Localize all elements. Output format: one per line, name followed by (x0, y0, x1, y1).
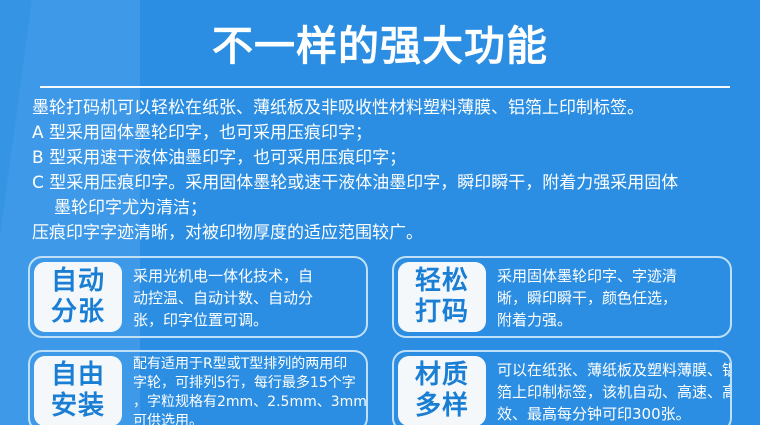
feature-text-line: 张，印字位置可调。 (133, 309, 360, 331)
feature-badge-line: 自由 (51, 360, 105, 391)
feature-text-line: 效、最高每分钟可印300张。 (497, 403, 732, 425)
feature-text-line: 采用固体墨轮印字、字迹清 (497, 265, 724, 287)
description-line: 墨轮印字尤为清洁； (32, 196, 744, 221)
feature-card-auto-feed: 自动 分张 采用光机电一体化技术，自 动控温、自动计数、自动分 张，印字位置可调… (28, 256, 368, 338)
feature-text-line: 字轮，可排列5行，每行最多15个字 (133, 374, 367, 393)
description-line: C 型采用压痕印字。采用固体墨轮或速干液体油墨印字，瞬印瞬干，附着力强采用固体 (32, 171, 744, 196)
description-block: 墨轮打码机可以轻松在纸张、薄纸板及非吸收性材料塑料薄膜、铝箔上印制标签。 A 型… (32, 96, 744, 246)
feature-card-free-installation: 自由 安装 配有适用于R型或T型排列的两用印 字轮，可排列5行，每行最多15个字… (28, 350, 368, 425)
feature-text-line: 附着力强。 (497, 309, 724, 331)
description-line: B 型采用速干液体油墨印字，也可采用压痕印字； (32, 146, 744, 171)
feature-text-line: 箔上印制标签，该机自动、高速、高 (497, 381, 732, 403)
feature-text-line: ，字粒规格有2mm、2.5mm、3mm (133, 393, 367, 412)
page-title: 不一样的强大功能 (0, 22, 760, 70)
feature-text-line: 可以在纸张、薄纸板及塑料薄膜、铝 (497, 359, 732, 381)
feature-card-text: 可以在纸张、薄纸板及塑料薄膜、铝 箔上印制标签，该机自动、高速、高 效、最高每分… (490, 352, 732, 425)
feature-text-line: 配有适用于R型或T型排列的两用印 (133, 355, 367, 374)
feature-badge-line: 自动 (51, 266, 105, 297)
description-line: 墨轮打码机可以轻松在纸张、薄纸板及非吸收性材料塑料薄膜、铝箔上印制标签。 (32, 96, 744, 121)
feature-card-material-variety: 材质 多样 可以在纸张、薄纸板及塑料薄膜、铝 箔上印制标签，该机自动、高速、高 … (392, 350, 732, 425)
description-line: 压痕印字字迹清晰，对被印物厚度的适应范围较广。 (32, 221, 744, 246)
feature-card-text: 采用固体墨轮印字、字迹清 晰，瞬印瞬干，颜色任选， 附着力强。 (490, 258, 730, 336)
feature-badge: 材质 多样 (398, 356, 486, 425)
title-divider (40, 86, 730, 88)
feature-badge-line: 轻松 (415, 266, 469, 297)
feature-text-line: 采用光机电一体化技术，自 (133, 265, 360, 287)
feature-badge: 自由 安装 (34, 356, 122, 425)
feature-text-line: 晰，瞬印瞬干，颜色任选， (497, 287, 724, 309)
feature-badge-line: 分张 (51, 297, 105, 328)
description-line: A 型采用固体墨轮印字，也可采用压痕印字； (32, 121, 744, 146)
feature-card-text: 采用光机电一体化技术，自 动控温、自动计数、自动分 张，印字位置可调。 (126, 258, 366, 336)
feature-badge: 轻松 打码 (398, 262, 486, 332)
feature-text-line: 动控温、自动计数、自动分 (133, 287, 360, 309)
feature-card-easy-coding: 轻松 打码 采用固体墨轮印字、字迹清 晰，瞬印瞬干，颜色任选， 附着力强。 (392, 256, 732, 338)
feature-text-line: 可供选用。 (133, 412, 367, 425)
feature-badge-line: 材质 (415, 360, 469, 391)
feature-card-text: 配有适用于R型或T型排列的两用印 字轮，可排列5行，每行最多15个字 ，字粒规格… (126, 352, 368, 425)
feature-badge-line: 多样 (415, 391, 469, 422)
feature-badge: 自动 分张 (34, 262, 122, 332)
feature-badge-line: 打码 (415, 297, 469, 328)
promo-banner: 不一样的强大功能 墨轮打码机可以轻松在纸张、薄纸板及非吸收性材料塑料薄膜、铝箔上… (0, 0, 760, 425)
feature-badge-line: 安装 (51, 391, 105, 422)
